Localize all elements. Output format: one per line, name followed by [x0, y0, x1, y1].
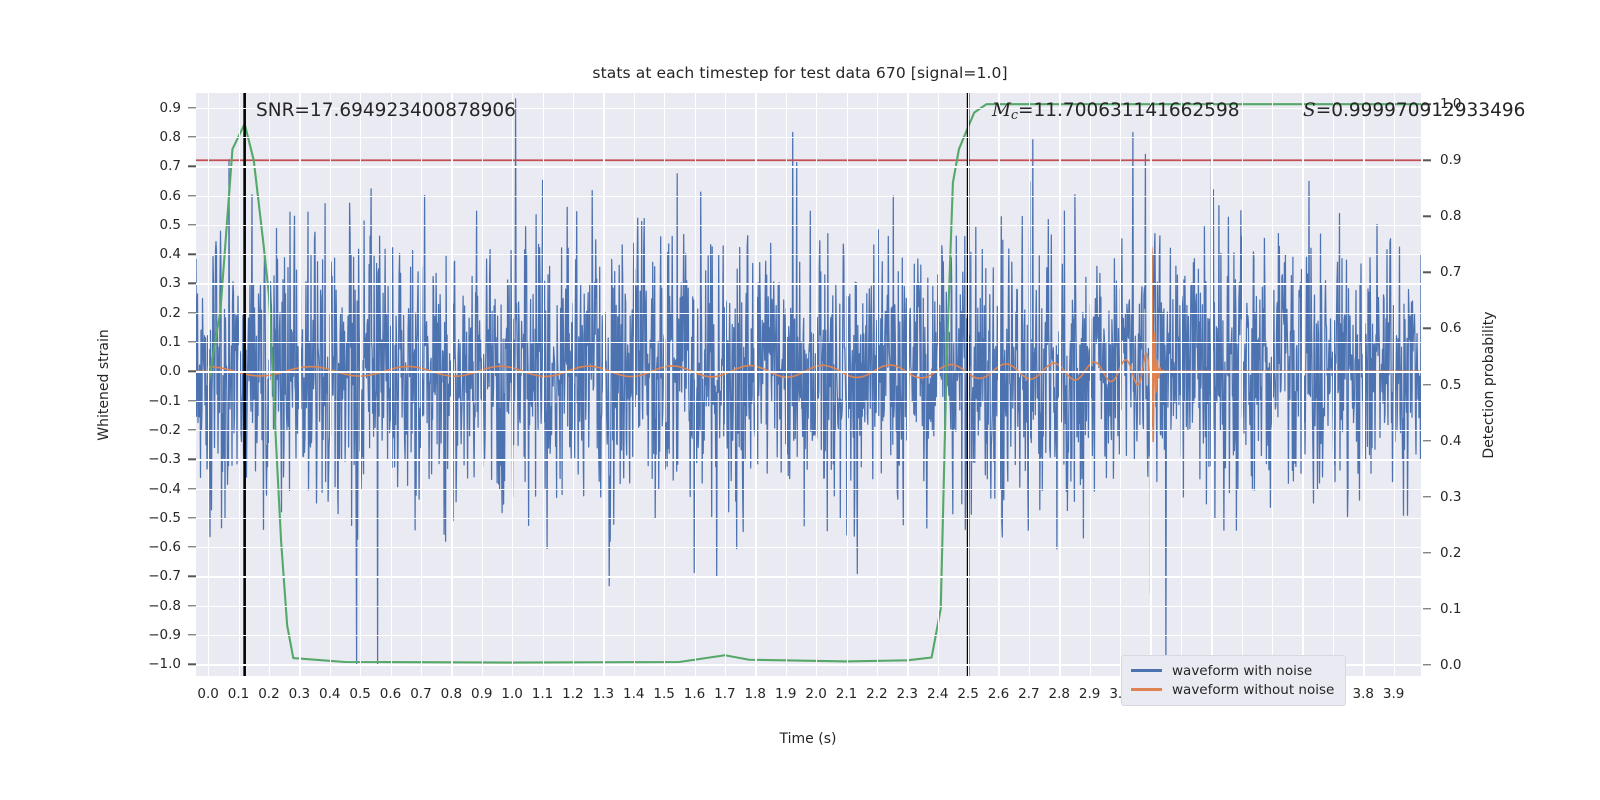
y-tick-label-left: −0.5 [148, 510, 181, 526]
y-tick-label-left: 0.9 [160, 100, 181, 116]
plot-svg [196, 93, 1421, 676]
x-tick-label: 1.5 [653, 686, 674, 702]
x-tick-label: 2.1 [836, 686, 857, 702]
y-tick-label-right: 0.7 [1440, 264, 1461, 280]
x-tick-label: 1.9 [775, 686, 796, 702]
y-tick-mark-right [1423, 664, 1431, 665]
x-tick-label: 0.3 [289, 686, 310, 702]
y-tick-mark-left [188, 488, 196, 489]
page-title: stats at each timestep for test data 670… [0, 64, 1600, 82]
y-tick-label-left: 0.5 [160, 217, 181, 233]
y-tick-label-right: 0.5 [1440, 377, 1461, 393]
gridline-vertical [968, 93, 969, 676]
gridline-vertical [1363, 93, 1364, 676]
annotation-s-value: 0.999970912933496 [1331, 100, 1525, 121]
gridline-vertical [847, 93, 848, 676]
gridline-vertical [877, 93, 878, 676]
y-tick-mark-left [188, 371, 196, 372]
y-tick-label-left: −0.3 [148, 451, 181, 467]
y-tick-mark-left [188, 459, 196, 460]
y-tick-label-left: 0.3 [160, 275, 181, 291]
figure-canvas: stats at each timestep for test data 670… [0, 0, 1600, 800]
y-tick-label-right: 0.8 [1440, 208, 1461, 224]
y-tick-label-left: −0.7 [148, 568, 181, 584]
x-tick-label: 0.7 [410, 686, 431, 702]
y-tick-label-left: 0.6 [160, 188, 181, 204]
gridline-horizontal [196, 489, 1421, 490]
gridline-vertical [1211, 93, 1212, 676]
y-axis-label-left: Whitened strain [96, 329, 112, 440]
y-tick-mark-right [1423, 440, 1431, 441]
y-tick-mark-left [188, 195, 196, 196]
gridline-vertical [391, 93, 392, 676]
gridline-vertical [543, 93, 544, 676]
gridline-vertical [360, 93, 361, 676]
gridline-vertical [482, 93, 483, 676]
plot-area [196, 93, 1421, 676]
y-tick-mark-left [188, 517, 196, 518]
y-tick-label-left: −0.6 [148, 539, 181, 555]
y-tick-mark-left [188, 634, 196, 635]
y-tick-mark-left [188, 576, 196, 577]
y-tick-mark-left [188, 605, 196, 606]
y-tick-mark-left [188, 546, 196, 547]
gridline-horizontal [196, 137, 1421, 138]
y-tick-label-right: 0.0 [1440, 657, 1461, 673]
gridline-vertical [1059, 93, 1060, 676]
gridline-vertical [299, 93, 300, 676]
y-tick-mark-left [188, 136, 196, 137]
legend-item-label: waveform with noise [1172, 663, 1312, 679]
gridline-vertical [1333, 93, 1334, 676]
y-tick-mark-right [1423, 496, 1431, 497]
y-tick-mark-right [1423, 552, 1431, 553]
gridline-horizontal [196, 459, 1421, 460]
gridline-horizontal [196, 371, 1421, 372]
y-tick-mark-left [188, 341, 196, 342]
annotation-score: S=0.999970912933496 [1303, 100, 1525, 121]
gridline-horizontal [196, 283, 1421, 284]
gridline-vertical [330, 93, 331, 676]
x-tick-label: 2.9 [1079, 686, 1100, 702]
x-tick-label: 0.9 [471, 686, 492, 702]
y-tick-label-left: −0.9 [148, 627, 181, 643]
annotation-snr-text: SNR=17.694923400878906 [256, 100, 516, 121]
annotation-snr: SNR=17.694923400878906 [256, 100, 516, 121]
y-tick-mark-right [1423, 328, 1431, 329]
y-tick-mark-left [188, 664, 196, 665]
y-tick-label-left: −0.1 [148, 393, 181, 409]
x-tick-label: 2.8 [1049, 686, 1070, 702]
y-tick-label-right: 0.3 [1440, 489, 1461, 505]
gridline-vertical [239, 93, 240, 676]
gridline-horizontal [196, 576, 1421, 577]
gridline-vertical [938, 93, 939, 676]
y-tick-label-left: 0.8 [160, 129, 181, 145]
gridline-vertical [603, 93, 604, 676]
gridline-vertical [755, 93, 756, 676]
y-tick-label-right: 0.4 [1440, 433, 1461, 449]
y-tick-mark-left [188, 429, 196, 430]
y-tick-mark-left [188, 283, 196, 284]
gridline-vertical [1029, 93, 1030, 676]
y-tick-label-right: 0.1 [1440, 601, 1461, 617]
gridline-horizontal [196, 166, 1421, 167]
y-tick-mark-right [1423, 160, 1431, 161]
y-tick-label-left: 0.0 [160, 363, 181, 379]
x-tick-label: 1.1 [532, 686, 553, 702]
x-tick-label: 1.2 [562, 686, 583, 702]
gridline-vertical [451, 93, 452, 676]
x-tick-label: 2.7 [1018, 686, 1039, 702]
annotation-s-symbol: S [1303, 100, 1316, 121]
legend-item-label: waveform without noise [1172, 682, 1334, 698]
annotation-s-equals: = [1316, 100, 1332, 121]
x-tick-label: 0.0 [197, 686, 218, 702]
y-tick-label-left: 0.1 [160, 334, 181, 350]
annotation-chirp-mass: Mc=11.700631141662598 [992, 100, 1240, 122]
gridline-horizontal [196, 547, 1421, 548]
gridline-vertical [695, 93, 696, 676]
y-tick-mark-left [188, 400, 196, 401]
legend-item[interactable]: waveform without noise [1131, 680, 1334, 699]
y-tick-label-left: 0.7 [160, 158, 181, 174]
annotation-mc-subscript: c [1011, 107, 1018, 122]
annotation-mc-equals: = [1018, 100, 1034, 121]
y-tick-mark-right [1423, 384, 1431, 385]
gridline-vertical [907, 93, 908, 676]
gridline-vertical [208, 93, 209, 676]
gridline-vertical [1242, 93, 1243, 676]
gridline-vertical [1090, 93, 1091, 676]
gridline-vertical [634, 93, 635, 676]
x-tick-label: 2.3 [897, 686, 918, 702]
y-tick-label-right: 0.6 [1440, 320, 1461, 336]
gridline-horizontal [196, 401, 1421, 402]
x-tick-label: 2.2 [866, 686, 887, 702]
gridline-horizontal [196, 635, 1421, 636]
x-tick-label: 0.1 [228, 686, 249, 702]
y-tick-label-left: −0.4 [148, 481, 181, 497]
x-tick-label: 1.4 [623, 686, 644, 702]
y-tick-label-left: 0.2 [160, 305, 181, 321]
gridline-vertical [1120, 93, 1121, 676]
gridline-vertical [1150, 93, 1151, 676]
legend-item[interactable]: waveform with noise [1131, 661, 1334, 680]
gridline-vertical [421, 93, 422, 676]
y-axis-label-right: Detection probability [1481, 311, 1497, 458]
annotation-mc-value: 11.700631141662598 [1034, 100, 1240, 121]
x-tick-label: 1.6 [684, 686, 705, 702]
x-tick-label: 1.7 [714, 686, 735, 702]
gridline-horizontal [196, 606, 1421, 607]
gridline-vertical [786, 93, 787, 676]
x-tick-label: 0.5 [349, 686, 370, 702]
x-tick-label: 1.8 [745, 686, 766, 702]
x-tick-label: 1.3 [593, 686, 614, 702]
x-tick-label: 2.4 [927, 686, 948, 702]
y-tick-label-left: −0.2 [148, 422, 181, 438]
gridline-vertical [998, 93, 999, 676]
annotation-mc-symbol: M [992, 100, 1011, 121]
x-tick-label: 0.6 [380, 686, 401, 702]
y-tick-mark-left [188, 224, 196, 225]
x-tick-label: 1.0 [501, 686, 522, 702]
gridline-horizontal [196, 518, 1421, 519]
y-tick-mark-left [188, 107, 196, 108]
y-tick-label-right: 0.9 [1440, 152, 1461, 168]
gridline-vertical [816, 93, 817, 676]
x-tick-label: 2.6 [988, 686, 1009, 702]
gridline-vertical [512, 93, 513, 676]
gridline-horizontal [196, 313, 1421, 314]
gridline-vertical [725, 93, 726, 676]
gridline-vertical [664, 93, 665, 676]
y-tick-mark-right [1423, 272, 1431, 273]
x-tick-label: 0.2 [258, 686, 279, 702]
gridline-horizontal [196, 196, 1421, 197]
y-tick-label-left: −1.0 [148, 656, 181, 672]
y-tick-label-left: 0.4 [160, 246, 181, 262]
legend-color-swatch [1131, 688, 1162, 690]
y-tick-mark-left [188, 312, 196, 313]
legend[interactable]: waveform with noisewaveform without nois… [1121, 655, 1346, 706]
gridline-vertical [269, 93, 270, 676]
x-tick-label: 3.8 [1353, 686, 1374, 702]
gridline-vertical [1302, 93, 1303, 676]
y-tick-label-right: 0.2 [1440, 545, 1461, 561]
gridline-vertical [1181, 93, 1182, 676]
x-tick-label: 2.0 [805, 686, 826, 702]
y-tick-mark-left [188, 253, 196, 254]
x-tick-label: 0.4 [319, 686, 340, 702]
y-tick-mark-left [188, 166, 196, 167]
y-tick-mark-right [1423, 608, 1431, 609]
series-waveform-with-noise [196, 99, 1421, 664]
x-tick-label: 2.5 [957, 686, 978, 702]
gridline-horizontal [196, 225, 1421, 226]
x-tick-label: 0.8 [441, 686, 462, 702]
y-tick-label-left: −0.8 [148, 598, 181, 614]
y-tick-mark-right [1423, 216, 1431, 217]
legend-color-swatch [1131, 669, 1162, 671]
gridline-horizontal [196, 430, 1421, 431]
x-axis-label: Time (s) [780, 731, 837, 747]
gridline-vertical [573, 93, 574, 676]
gridline-vertical [1394, 93, 1395, 676]
x-tick-label: 3.9 [1383, 686, 1404, 702]
gridline-horizontal [196, 254, 1421, 255]
gridline-vertical [1272, 93, 1273, 676]
gridline-horizontal [196, 342, 1421, 343]
